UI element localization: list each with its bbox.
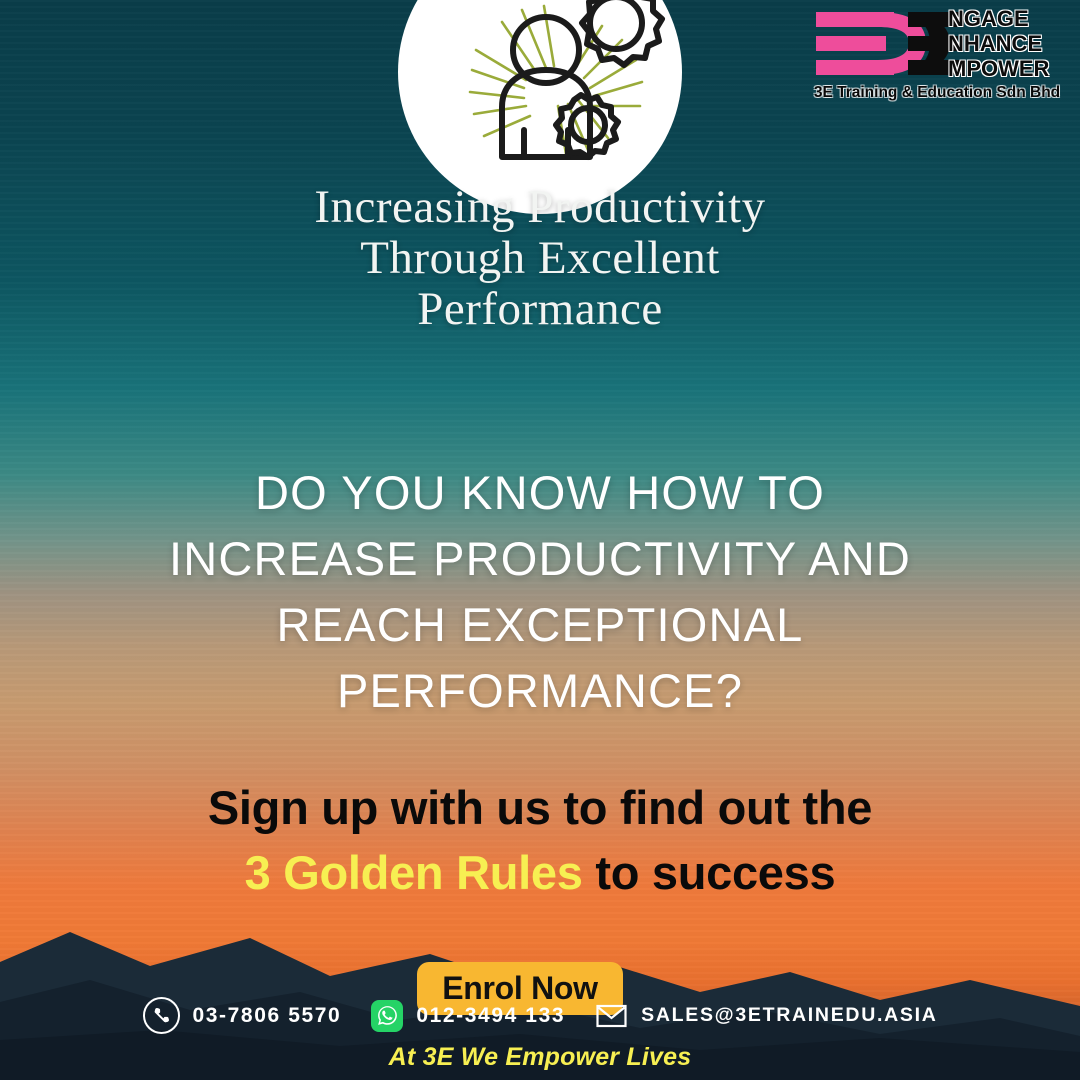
logo-word-enhance: NHANCE [948,31,1049,56]
contact-whatsapp[interactable]: 012-3494 133 [371,1000,565,1032]
golden-rules-highlight: 3 Golden Rules [245,846,583,899]
phone-icon [143,997,180,1034]
email-address: SALES@3ETRAINEDU.ASIA [641,1004,937,1027]
logo-word-engage: NGAGE [948,6,1049,31]
company-logo: NGAGE NHANCE MPOWER 3E Training & Educat… [808,4,1066,102]
contact-email[interactable]: SALES@3ETRAINEDU.ASIA [595,1003,937,1029]
logo-word-list: NGAGE NHANCE MPOWER [948,6,1049,81]
signup-message: Sign up with us to find out the 3 Golden… [40,775,1040,905]
logo-word-empower: MPOWER [948,56,1049,81]
title-line-3: Performance [0,284,1080,335]
whatsapp-number: 012-3494 133 [416,1004,565,1028]
signup-line-2-rest: to success [583,846,836,899]
company-name: 3E Training & Education Sdn Bhd [808,84,1066,102]
email-icon [595,1003,628,1029]
poster-title: Increasing Productivity Through Excellen… [0,182,1080,335]
signup-line-1: Sign up with us to find out the [40,775,1040,840]
headline-line-2: INCREASE PRODUCTIVITY AND [60,526,1020,592]
signup-line-2: 3 Golden Rules to success [40,840,1040,905]
logo-mark-3e: NGAGE NHANCE MPOWER [808,4,1066,82]
company-tagline: At 3E We Empower Lives [0,1043,1080,1072]
headline-line-1: DO YOU KNOW HOW TO [60,460,1020,526]
contact-phone[interactable]: 03-7806 5570 [143,997,342,1034]
title-line-1: Increasing Productivity [0,182,1080,233]
poster-canvas: NGAGE NHANCE MPOWER 3E Training & Educat… [0,0,1080,1080]
contact-bar: 03-7806 5570 012-3494 133 SALES@3ETRAINE… [0,997,1080,1034]
headline-line-3: REACH EXCEPTIONAL [60,592,1020,658]
phone-number: 03-7806 5570 [193,1004,342,1028]
title-line-2: Through Excellent [0,233,1080,284]
whatsapp-icon [371,1000,403,1032]
headline-line-4: PERFORMANCE? [60,658,1020,724]
headline-question: DO YOU KNOW HOW TO INCREASE PRODUCTIVITY… [60,460,1020,724]
